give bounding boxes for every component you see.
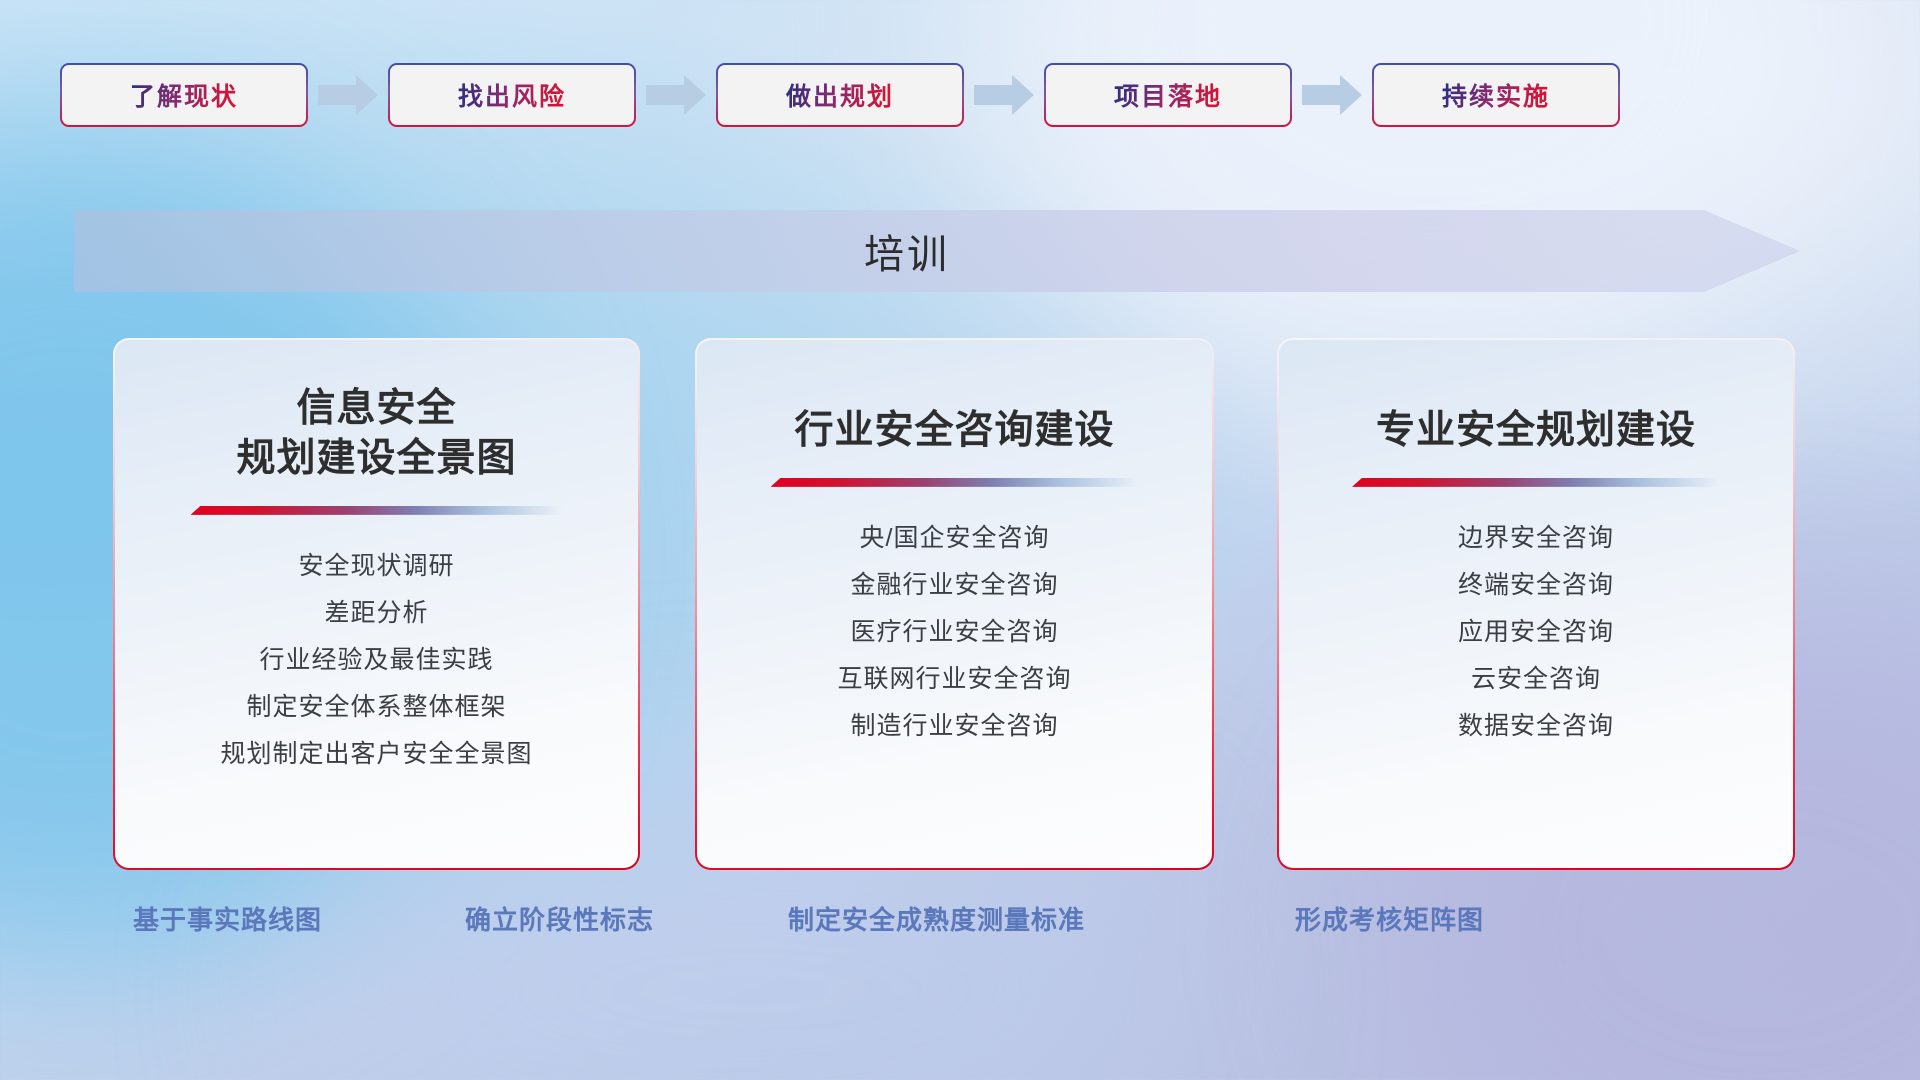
list-item: 边界安全咨询 bbox=[1458, 515, 1614, 562]
step-card-1-inner: 了解现状 bbox=[62, 65, 306, 125]
list-item: 规划制定出客户安全全景图 bbox=[220, 731, 532, 778]
step-label-1: 了解现状 bbox=[130, 77, 238, 113]
card-professional-security-planning[interactable]: 专业安全规划建设 边界安全咨询 终端安全咨询 应用安全咨询 云安全咨询 数据安全… bbox=[1277, 338, 1795, 870]
footnote-3: 制定安全成熟度测量标准 bbox=[788, 900, 1085, 937]
right-arrow-icon bbox=[316, 73, 380, 117]
right-arrow-icon bbox=[1300, 73, 1364, 117]
card-information-security-blueprint[interactable]: 信息安全 规划建设全景图 安全现状调研 差距分析 行业经验及最佳实践 制定安全体… bbox=[113, 338, 640, 870]
list-item: 医疗行业安全咨询 bbox=[837, 609, 1071, 656]
step-card-3-inner: 做出规划 bbox=[718, 65, 962, 125]
list-item: 云安全咨询 bbox=[1458, 656, 1614, 703]
card-3-item-list: 边界安全咨询 终端安全咨询 应用安全咨询 云安全咨询 数据安全咨询 bbox=[1458, 515, 1614, 750]
card-1-inner: 信息安全 规划建设全景图 安全现状调研 差距分析 行业经验及最佳实践 制定安全体… bbox=[115, 340, 638, 868]
card-3-divider bbox=[1352, 478, 1720, 487]
step-card-1[interactable]: 了解现状 bbox=[60, 63, 308, 127]
card-2-item-list: 央/国企安全咨询 金融行业安全咨询 医疗行业安全咨询 互联网行业安全咨询 制造行… bbox=[837, 515, 1071, 750]
list-item: 行业经验及最佳实践 bbox=[220, 637, 532, 684]
right-arrow-icon bbox=[644, 73, 708, 117]
card-1-divider bbox=[191, 506, 563, 515]
step-label-3: 做出规划 bbox=[786, 77, 894, 113]
list-item: 互联网行业安全咨询 bbox=[837, 656, 1071, 703]
list-item: 差距分析 bbox=[220, 590, 532, 637]
list-item: 金融行业安全咨询 bbox=[837, 562, 1071, 609]
list-item: 制造行业安全咨询 bbox=[837, 703, 1071, 750]
footnote-4: 形成考核矩阵图 bbox=[1295, 900, 1484, 937]
step-card-2[interactable]: 找出风险 bbox=[388, 63, 636, 127]
card-2-divider bbox=[771, 478, 1139, 487]
footnote-1: 基于事实路线图 bbox=[133, 900, 322, 937]
step-card-5[interactable]: 持续实施 bbox=[1372, 63, 1620, 127]
step-card-4[interactable]: 项目落地 bbox=[1044, 63, 1292, 127]
card-2-inner: 行业安全咨询建设 央/国企安全咨询 金融行业安全咨询 医疗行业安全咨询 互联网行… bbox=[697, 340, 1212, 868]
list-item: 终端安全咨询 bbox=[1458, 562, 1614, 609]
training-banner: 培训 bbox=[74, 210, 1800, 292]
list-item: 数据安全咨询 bbox=[1458, 703, 1614, 750]
list-item: 应用安全咨询 bbox=[1458, 609, 1614, 656]
list-item: 制定安全体系整体框架 bbox=[220, 684, 532, 731]
step-label-5: 持续实施 bbox=[1442, 77, 1550, 113]
step-card-5-inner: 持续实施 bbox=[1374, 65, 1618, 125]
list-item: 安全现状调研 bbox=[220, 543, 532, 590]
step-card-4-inner: 项目落地 bbox=[1046, 65, 1290, 125]
step-card-3[interactable]: 做出规划 bbox=[716, 63, 964, 127]
card-1-item-list: 安全现状调研 差距分析 行业经验及最佳实践 制定安全体系整体框架 规划制定出客户… bbox=[220, 543, 532, 778]
card-2-title: 行业安全咨询建设 bbox=[794, 406, 1114, 456]
step-label-2: 找出风险 bbox=[458, 77, 566, 113]
footnote-2: 确立阶段性标志 bbox=[465, 900, 654, 937]
banner-title: 培训 bbox=[864, 222, 950, 280]
step-label-4: 项目落地 bbox=[1114, 77, 1222, 113]
card-3-inner: 专业安全规划建设 边界安全咨询 终端安全咨询 应用安全咨询 云安全咨询 数据安全… bbox=[1279, 340, 1793, 868]
process-step-row: 了解现状 找出风险 做出规划 项目落地 持续实施 bbox=[60, 62, 1860, 128]
right-arrow-icon bbox=[972, 73, 1036, 117]
step-card-2-inner: 找出风险 bbox=[390, 65, 634, 125]
card-row: 信息安全 规划建设全景图 安全现状调研 差距分析 行业经验及最佳实践 制定安全体… bbox=[113, 338, 1795, 870]
card-1-title: 信息安全 规划建设全景图 bbox=[236, 384, 516, 484]
list-item: 央/国企安全咨询 bbox=[837, 515, 1071, 562]
card-industry-security-consulting[interactable]: 行业安全咨询建设 央/国企安全咨询 金融行业安全咨询 医疗行业安全咨询 互联网行… bbox=[695, 338, 1214, 870]
footnote-row: 基于事实路线图 确立阶段性标志 制定安全成熟度测量标准 形成考核矩阵图 bbox=[0, 900, 1920, 952]
card-3-title: 专业安全规划建设 bbox=[1376, 406, 1696, 456]
